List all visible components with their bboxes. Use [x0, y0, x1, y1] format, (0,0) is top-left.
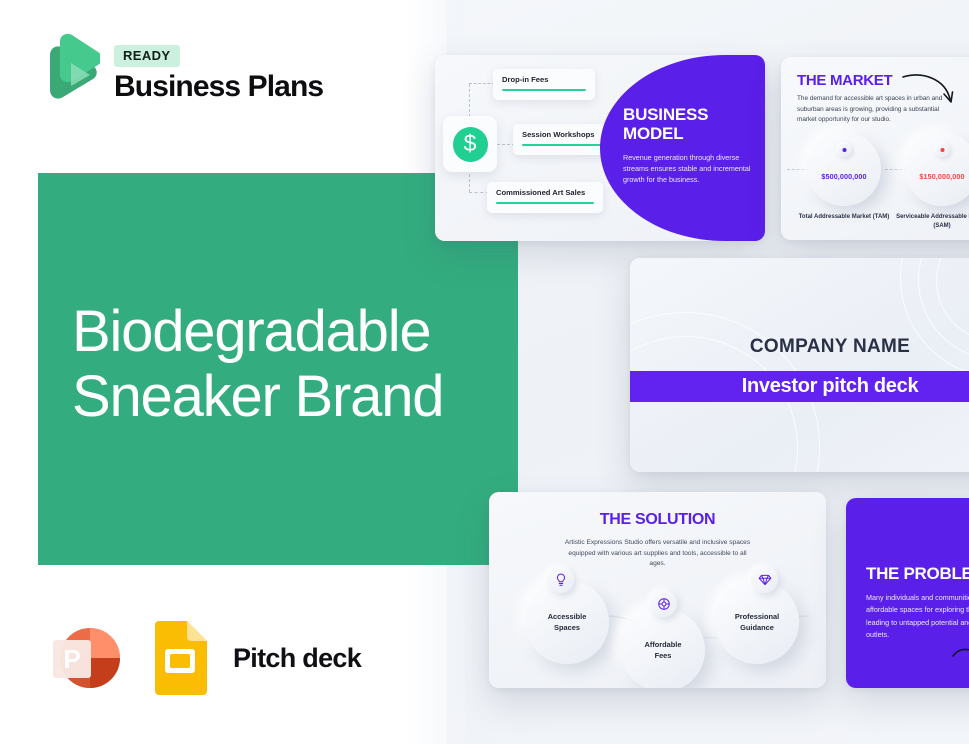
hero-title-line2: Sneaker Brand — [72, 365, 542, 430]
slide-business-model[interactable]: $ Drop-in Fees Session Workshops Commiss… — [435, 55, 765, 241]
solution-item-accessible-spaces[interactable]: Accessible Spaces — [525, 580, 609, 664]
google-slides-icon — [149, 621, 211, 695]
chip-label: Commissioned Art Sales — [496, 188, 594, 197]
metric-value: $150,000,000 — [919, 172, 964, 181]
metric-caption: Serviceable Addressable Market (SAM) — [894, 213, 969, 231]
label-line1: Affordable — [645, 640, 682, 649]
chip-underline — [502, 89, 586, 91]
metric-sam: $150,000,000 Serviceable Addressable Mar… — [905, 132, 969, 231]
target-icon — [650, 590, 677, 617]
company-name: COMPANY NAME — [630, 336, 969, 358]
slide-the-solution[interactable]: THE SOLUTION Artistic Expressions Studio… — [489, 492, 826, 688]
powerpoint-icon: P — [45, 617, 127, 699]
dial-knob — [837, 142, 852, 157]
chip-underline — [496, 202, 594, 204]
list-item[interactable]: Commissioned Art Sales — [487, 182, 603, 213]
label-line2: Spaces — [554, 623, 580, 632]
subtitle-band: Investor pitch deck — [630, 371, 969, 402]
ready-badge: READY — [114, 45, 180, 67]
label-line1: Professional — [735, 612, 779, 621]
slide-description: Revenue generation through diverse strea… — [623, 152, 751, 185]
slide-heading: THE SOLUTION — [489, 511, 826, 529]
slide-subtitle: Investor pitch deck — [742, 375, 919, 398]
label-line2: Fees — [655, 651, 672, 660]
format-row: P Pitch deck — [45, 617, 361, 699]
metric-dial: $150,000,000 — [905, 132, 969, 206]
page-title: Biodegradable Sneaker Brand — [72, 300, 542, 430]
metric-dial: $500,000,000 — [807, 132, 881, 206]
label-line2: Guidance — [740, 623, 774, 632]
dial-knob — [935, 142, 950, 157]
solution-label: Accessible Spaces — [525, 580, 609, 664]
brand-title: Business Plans — [114, 71, 323, 103]
diamond-icon — [751, 566, 778, 593]
dashed-connector — [787, 169, 809, 170]
slide-heading: THE MARKET — [797, 72, 892, 89]
connector-line — [469, 192, 489, 193]
list-item[interactable]: Drop-in Fees — [493, 69, 595, 100]
chip-label: Drop-in Fees — [502, 75, 586, 84]
slide-description: Many individuals and communities lack ac… — [866, 592, 969, 642]
heading-line2: MODEL — [623, 124, 753, 143]
play-triangle-logo-icon — [38, 33, 100, 113]
hero-title-line1: Biodegradable — [72, 300, 542, 365]
slide-heading: THE PROBLEM — [866, 564, 969, 584]
lightbulb-icon — [547, 566, 574, 593]
metric-tam: $500,000,000 Total Addressable Market (T… — [807, 132, 892, 222]
slide-the-market[interactable]: THE MARKET The demand for accessible art… — [781, 57, 969, 240]
metric-caption: Total Addressable Market (TAM) — [796, 213, 892, 222]
connector-line — [469, 83, 495, 84]
squiggle-underline-icon — [951, 636, 969, 662]
solution-label: Professional Guidance — [715, 580, 799, 664]
slide-description: Artistic Expressions Studio offers versa… — [561, 538, 754, 570]
dollar-sign-icon: $ — [453, 127, 488, 162]
slide-the-problem[interactable]: THE PROBLEM Many individuals and communi… — [846, 498, 969, 688]
solution-item-professional-guidance[interactable]: Professional Guidance — [715, 580, 799, 664]
brand-text: READY Business Plans — [114, 43, 323, 103]
slide-company-title[interactable]: COMPANY NAME Investor pitch deck — [630, 258, 969, 472]
slide-heading: BUSINESS MODEL — [623, 105, 753, 143]
dollar-sign-badge: $ — [443, 116, 497, 172]
metric-value: $500,000,000 — [821, 172, 866, 181]
solution-label: Affordable Fees — [621, 608, 705, 688]
heading-line1: BUSINESS — [623, 105, 753, 124]
label-line1: Accessible — [548, 612, 587, 621]
slide-description: The demand for accessible art spaces in … — [797, 94, 952, 126]
solution-item-affordable-fees[interactable]: Affordable Fees — [621, 608, 705, 688]
pitch-deck-label: Pitch deck — [233, 643, 361, 674]
svg-text:P: P — [63, 644, 80, 674]
preview-canvas: READY Business Plans Biodegradable Sneak… — [0, 0, 969, 744]
brand-logo: READY Business Plans — [38, 33, 323, 113]
